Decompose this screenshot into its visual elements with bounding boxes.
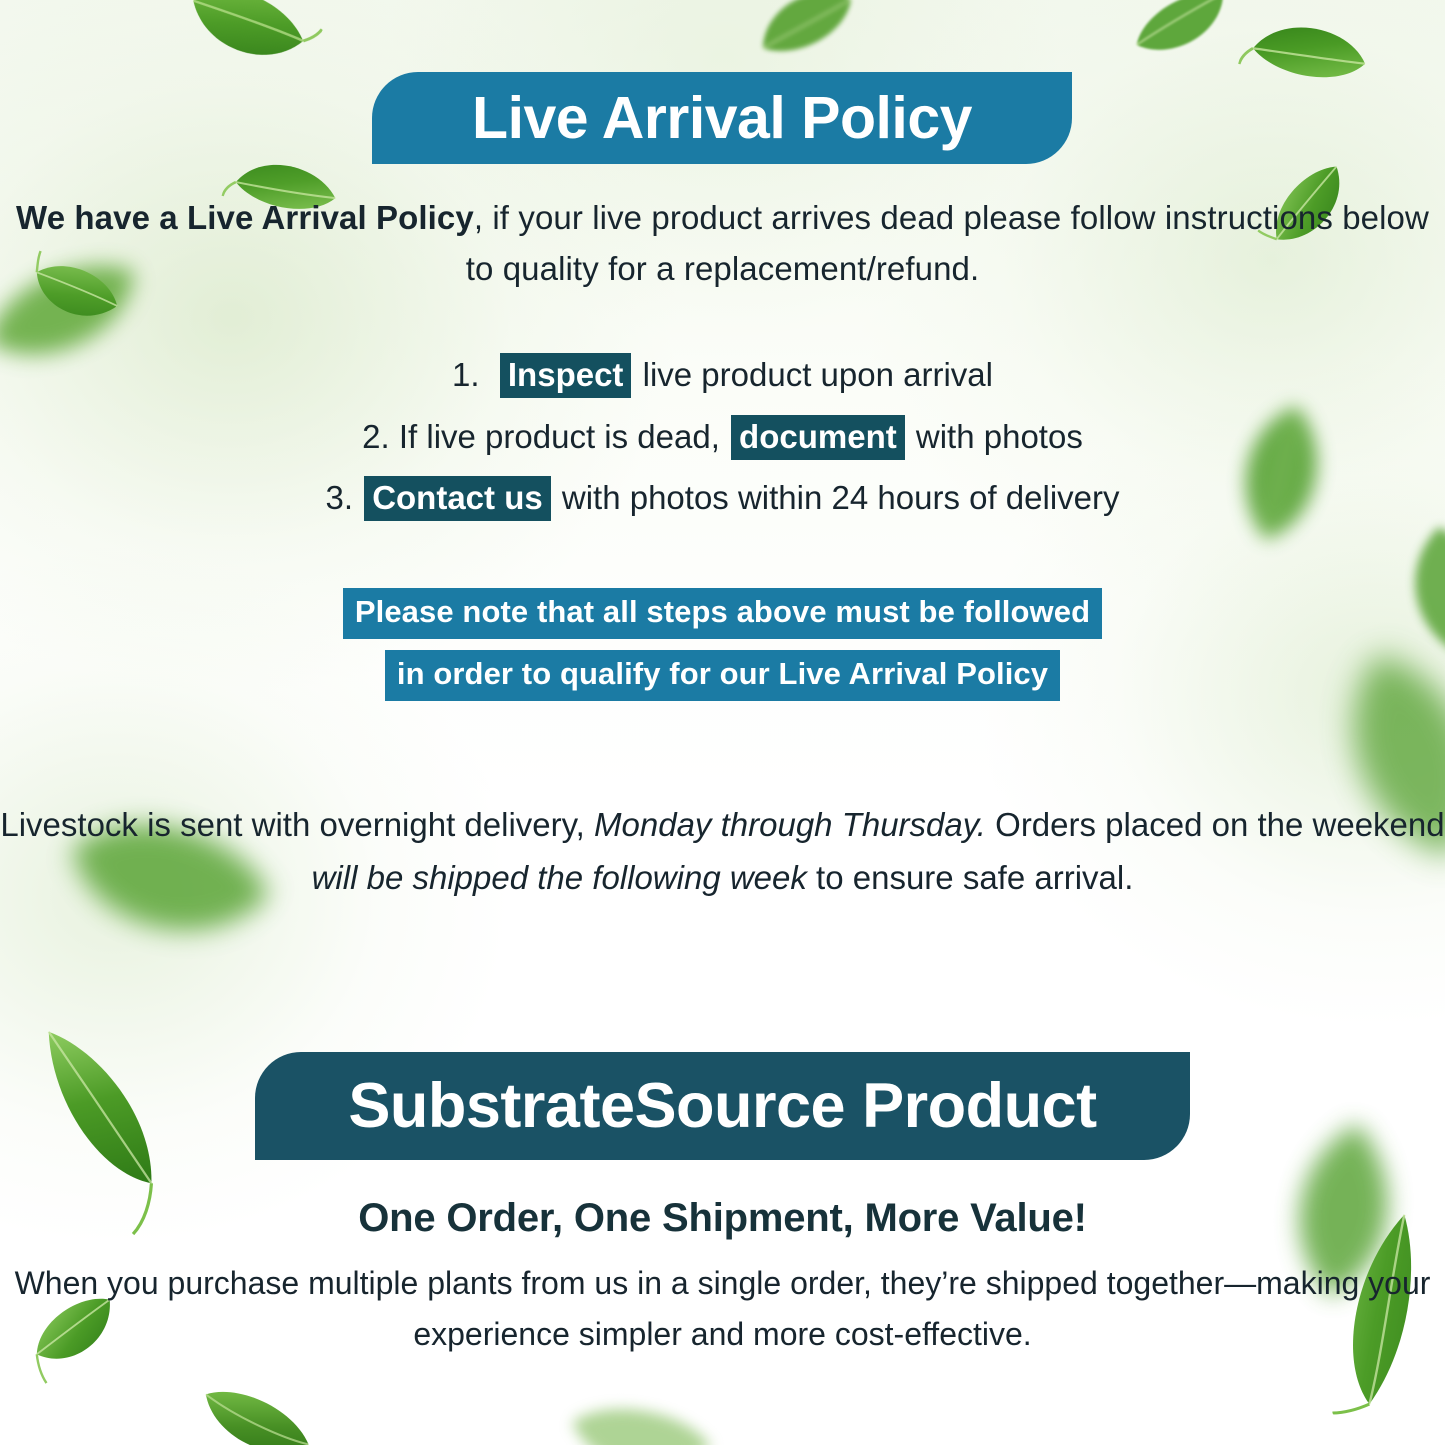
- step-3-number: 3.: [325, 479, 353, 516]
- value-proposition-heading: One Order, One Shipment, More Value!: [0, 1196, 1445, 1241]
- shipping-part-1: Livestock is sent with overnight deliver…: [0, 806, 594, 843]
- live-arrival-policy-banner: Live Arrival Policy: [372, 72, 1072, 164]
- substratesource-product-banner-title: SubstrateSource Product: [348, 1075, 1096, 1138]
- policy-note-line-1: Please note that all steps above must be…: [343, 588, 1102, 639]
- intro-rest: , if your live product arrives dead plea…: [466, 199, 1429, 287]
- policy-note-line-2-wrap: in order to qualify for our Live Arrival…: [0, 650, 1445, 701]
- shipping-italic-2: will be shipped the following week: [312, 859, 807, 896]
- shipping-schedule-paragraph: Livestock is sent with overnight deliver…: [0, 798, 1445, 905]
- step-2-before: If live product is dead,: [399, 418, 720, 455]
- intro-bold-lead: We have a Live Arrival Policy: [16, 199, 474, 236]
- step-3-after: with photos within 24 hours of delivery: [562, 479, 1120, 516]
- live-arrival-policy-banner-title: Live Arrival Policy: [472, 89, 972, 148]
- content-layer: Live Arrival Policy We have a Live Arriv…: [0, 0, 1445, 1445]
- value-proposition-body: When you purchase multiple plants from u…: [0, 1258, 1445, 1360]
- policy-infographic-page: Live Arrival Policy We have a Live Arriv…: [0, 0, 1445, 1445]
- step-2-number: 2.: [362, 418, 390, 455]
- policy-note-line-1-wrap: Please note that all steps above must be…: [0, 588, 1445, 639]
- shipping-italic-1: Monday through Thursday.: [594, 806, 986, 843]
- shipping-part-3: to ensure safe arrival.: [807, 859, 1134, 896]
- substratesource-product-banner: SubstrateSource Product: [255, 1052, 1190, 1160]
- list-item: 1. Inspect live product upon arrival: [0, 356, 1445, 394]
- list-item: 2. If live product is dead, document wit…: [0, 418, 1445, 456]
- step-3-highlight[interactable]: Contact us: [364, 476, 551, 521]
- step-2-highlight[interactable]: document: [731, 415, 905, 460]
- step-2-after: with photos: [916, 418, 1083, 455]
- policy-note-line-2: in order to qualify for our Live Arrival…: [385, 650, 1060, 701]
- shipping-part-2: Orders placed on the weekend: [986, 806, 1445, 843]
- step-1-highlight[interactable]: Inspect: [500, 353, 632, 398]
- intro-paragraph: We have a Live Arrival Policy, if your l…: [0, 192, 1445, 294]
- step-1-after: live product upon arrival: [643, 356, 993, 393]
- step-1-number: 1.: [452, 356, 480, 393]
- list-item: 3. Contact us with photos within 24 hour…: [0, 479, 1445, 517]
